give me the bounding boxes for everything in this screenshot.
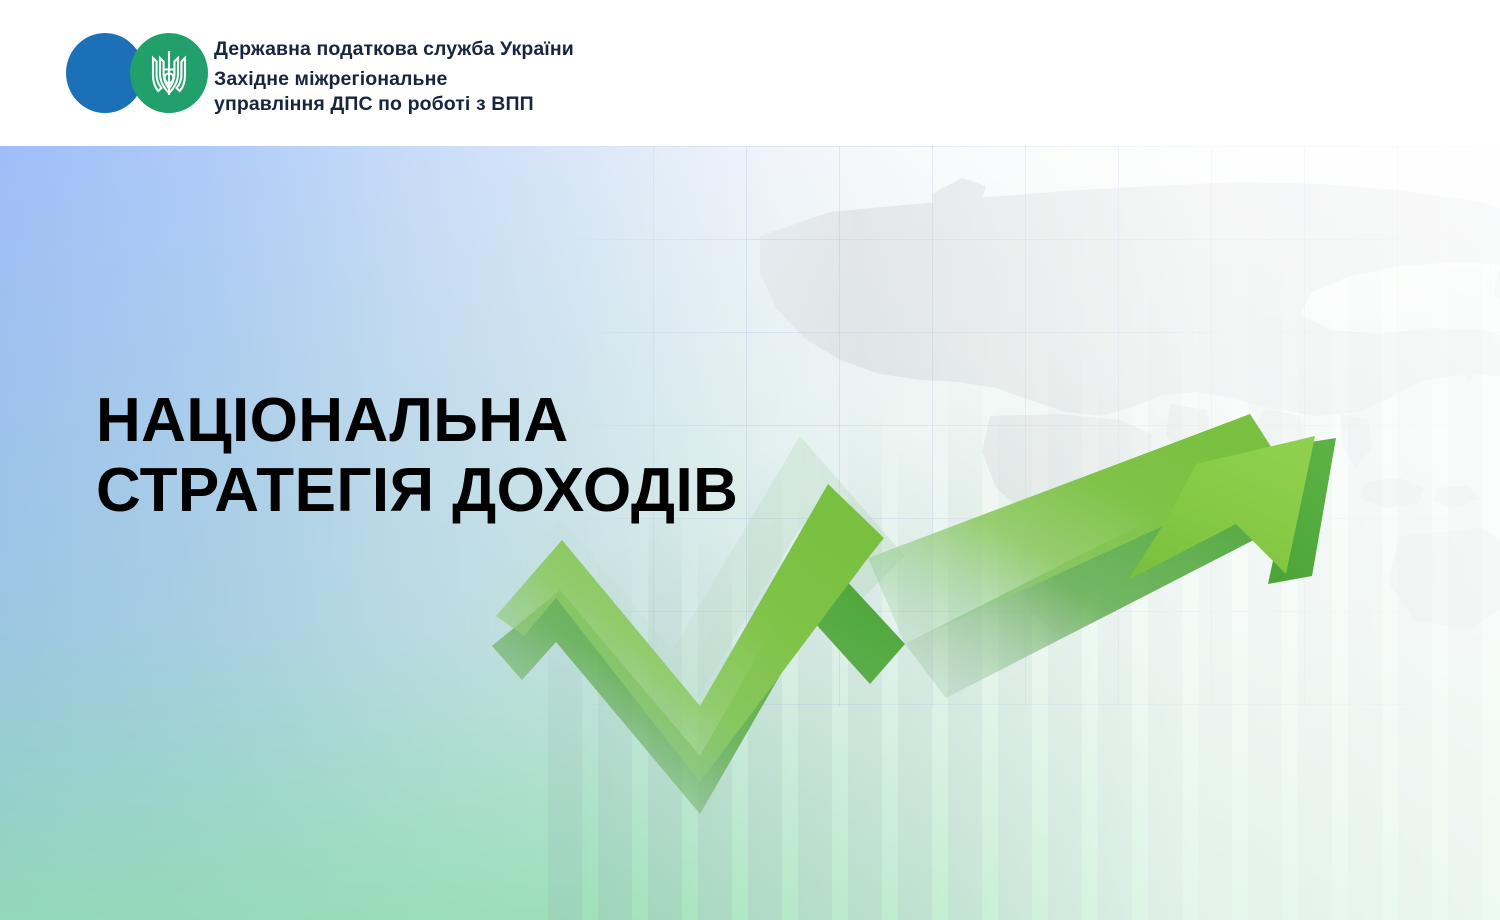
title-line-1: НАЦІОНАЛЬНА [96, 386, 738, 456]
page-title: НАЦІОНАЛЬНА СТРАТЕГІЯ ДОХОДІВ [96, 386, 738, 526]
poster-canvas: Державна податкова служба України Західн… [0, 0, 1500, 920]
department-name-line2: управління ДПС по роботі з ВПП [214, 92, 574, 117]
agency-logo [66, 33, 208, 113]
ukraine-trident-emblem-icon [149, 49, 189, 97]
header-band: Державна податкова служба України Західн… [0, 0, 1500, 146]
poster-artwork: НАЦІОНАЛЬНА СТРАТЕГІЯ ДОХОДІВ [0, 146, 1500, 920]
organisation-name: Державна податкова служба України [214, 36, 574, 62]
title-line-2: СТРАТЕГІЯ ДОХОДІВ [96, 456, 738, 526]
header-text-block: Державна податкова служба України Західн… [214, 36, 574, 117]
department-name-line1: Західне міжрегіональне [214, 67, 574, 92]
upward-trend-arrow-overlay-icon [0, 146, 1500, 920]
